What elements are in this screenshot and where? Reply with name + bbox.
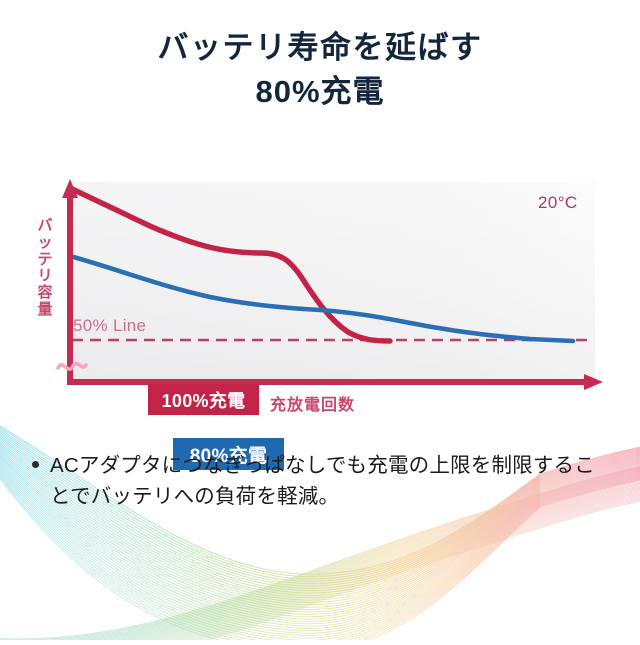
threshold-annotation: 50% Line bbox=[73, 316, 146, 336]
feature-bullet-list: ACアダプタにつなぎっぱなしでも充電の上限を制限することでバッテリへの負荷を軽減… bbox=[32, 450, 612, 512]
temperature-annotation: 20°C bbox=[538, 193, 578, 213]
bullet-item-text: ACアダプタにつなぎっぱなしでも充電の上限を制限することでバッテリへの負荷を軽減… bbox=[50, 450, 612, 512]
badge-100-percent-charge: 100%充電 bbox=[148, 384, 259, 415]
title-line-1: バッテリ寿命を延ばす bbox=[0, 26, 640, 70]
title-line-2: 80%充電 bbox=[0, 70, 640, 114]
page-title: バッテリ寿命を延ばす 80%充電 bbox=[0, 26, 640, 114]
bullet-dot-icon bbox=[32, 461, 39, 468]
x-axis-label: 充放電回数 bbox=[270, 391, 355, 415]
y-axis-label: バッテリ容量 bbox=[34, 218, 56, 319]
